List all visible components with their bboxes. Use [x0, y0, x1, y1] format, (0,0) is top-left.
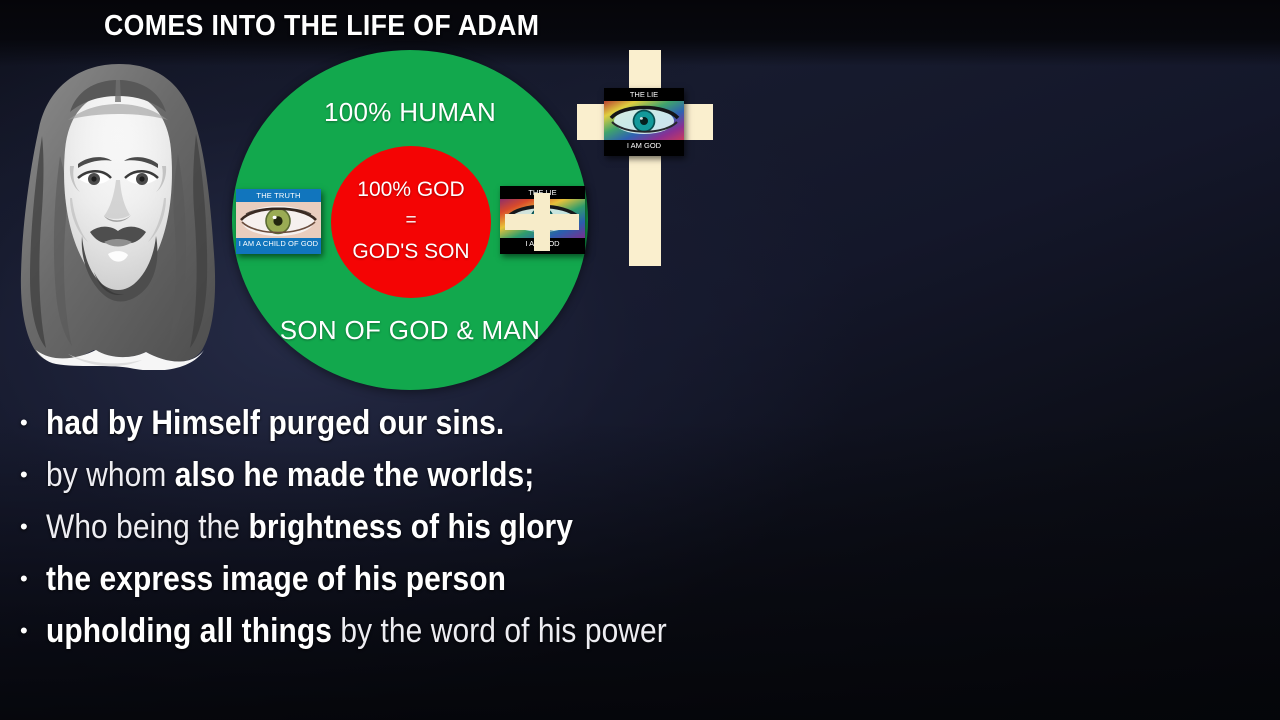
lie-eye-card-large: THE LIE I AM GOD	[604, 88, 684, 156]
list-item: • Who being the brightness of his glory	[20, 508, 1260, 546]
jesus-portrait-image	[8, 58, 230, 370]
list-item: • had by Himself purged our sins.	[20, 404, 1260, 442]
label-100-percent-human: 100% HUMAN	[232, 97, 588, 128]
large-cream-cross	[577, 50, 713, 266]
list-item-light: by whom	[46, 456, 175, 494]
label-equals-sign: =	[331, 210, 491, 232]
list-item-bold: brightness of his glory	[248, 508, 573, 546]
list-item-light: Who being the	[46, 508, 248, 546]
list-item: • by whom also he made the worlds;	[20, 456, 1260, 494]
colorful-eye-icon-large	[604, 101, 684, 140]
truth-card-header: THE TRUTH	[236, 189, 321, 202]
lie-large-card-header: THE LIE	[604, 88, 684, 101]
slide-canvas: COMES INTO THE LIFE OF ADAM	[0, 0, 1280, 720]
bullet-marker: •	[20, 516, 46, 538]
list-item-light: by the word of his power	[332, 612, 667, 650]
list-item-text: Who being the brightness of his glory	[46, 508, 573, 546]
list-item-bold: had by Himself purged our sins.	[46, 404, 504, 442]
list-item-bold: upholding all things	[46, 612, 332, 650]
list-item-bold: also he made the worlds;	[175, 456, 535, 494]
label-son-of-god-and-man: SON OF GOD & MAN	[232, 315, 588, 346]
lie-small-card-header: THE LIE	[500, 186, 585, 199]
lie-eye-card-small: THE LIE I AM GOD	[500, 186, 585, 254]
list-item-bold: the express image of his person	[46, 560, 506, 598]
bullet-marker: •	[20, 568, 46, 590]
list-item-text: upholding all things by the word of his …	[46, 612, 667, 650]
list-item-text: had by Himself purged our sins.	[46, 404, 504, 442]
list-item-text: the express image of his person	[46, 560, 506, 598]
bullet-list: • had by Himself purged our sins. • by w…	[20, 404, 1260, 664]
lie-large-card-footer: I AM GOD	[604, 140, 684, 153]
bullet-marker: •	[20, 620, 46, 642]
truth-eye-card: THE TRUTH I AM A CHILD OF GOD	[236, 189, 321, 254]
truth-card-footer: I AM A CHILD OF GOD	[236, 238, 321, 251]
large-cross-vertical-beam	[629, 50, 661, 266]
list-item: • upholding all things by the word of hi…	[20, 612, 1260, 650]
label-100-percent-god: 100% GOD	[331, 178, 491, 202]
green-eye-icon	[236, 202, 321, 238]
list-item-text: by whom also he made the worlds;	[46, 456, 534, 494]
list-item: • the express image of his person	[20, 560, 1260, 598]
page-title: COMES INTO THE LIFE OF ADAM	[104, 10, 539, 43]
lie-small-card-footer: I AM GOD	[500, 238, 585, 251]
label-gods-son: GOD'S SON	[331, 240, 491, 264]
bullet-marker: •	[20, 464, 46, 486]
colorful-eye-icon	[500, 199, 585, 238]
bullet-marker: •	[20, 412, 46, 434]
